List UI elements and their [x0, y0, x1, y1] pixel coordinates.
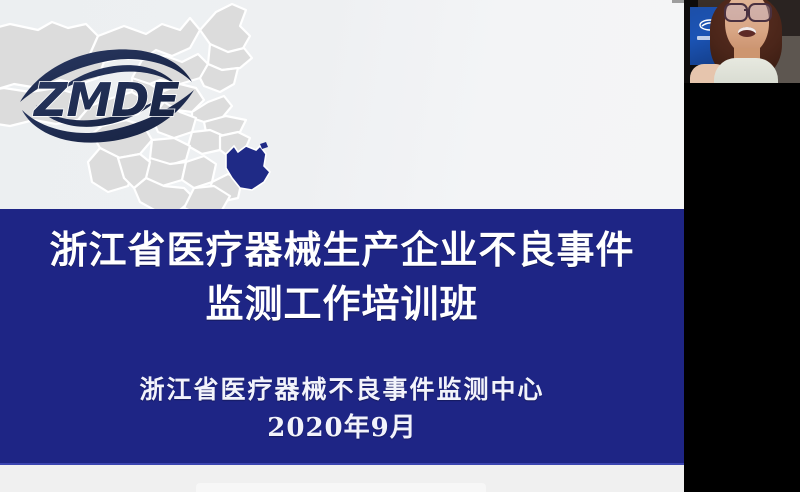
slide-subtitle: 浙江省医疗器械不良事件监测中心 2020年9月	[0, 371, 684, 447]
slide-footer-strip	[0, 465, 684, 492]
presenter-webcam[interactable]	[684, 0, 800, 83]
slide-title: 浙江省医疗器械生产企业不良事件 监测工作培训班	[0, 223, 684, 331]
participant-panel[interactable]	[684, 0, 800, 492]
slide-subtitle-date: 2020年9月	[0, 409, 684, 447]
glasses-lens-right	[748, 3, 772, 22]
presenter-clothing	[714, 58, 778, 83]
slide-map-header: ZMDE	[0, 0, 684, 209]
shared-screen-slide[interactable]: ZMDE 浙江省医疗器械生产企业不良事件 监测工作培训班 浙江省医疗器械不良事件…	[0, 0, 684, 492]
glasses-lens-left	[724, 3, 748, 22]
meeting-screen: ZMDE 浙江省医疗器械生产企业不良事件 监测工作培训班 浙江省医疗器械不良事件…	[0, 0, 800, 492]
slide-title-line-2: 监测工作培训班	[0, 277, 684, 331]
slide-title-banner: 浙江省医疗器械生产企业不良事件 监测工作培训班 浙江省医疗器械不良事件监测中心 …	[0, 209, 684, 465]
zmde-logo: ZMDE	[14, 44, 200, 148]
presenter-mouth	[738, 27, 756, 37]
slide-title-line-1: 浙江省医疗器械生产企业不良事件	[0, 223, 684, 277]
svg-text:ZMDE: ZMDE	[32, 73, 179, 127]
footer-pill	[196, 483, 486, 492]
slide-subtitle-organization: 浙江省医疗器械不良事件监测中心	[0, 371, 684, 409]
presenter-glasses-icon	[724, 3, 772, 19]
